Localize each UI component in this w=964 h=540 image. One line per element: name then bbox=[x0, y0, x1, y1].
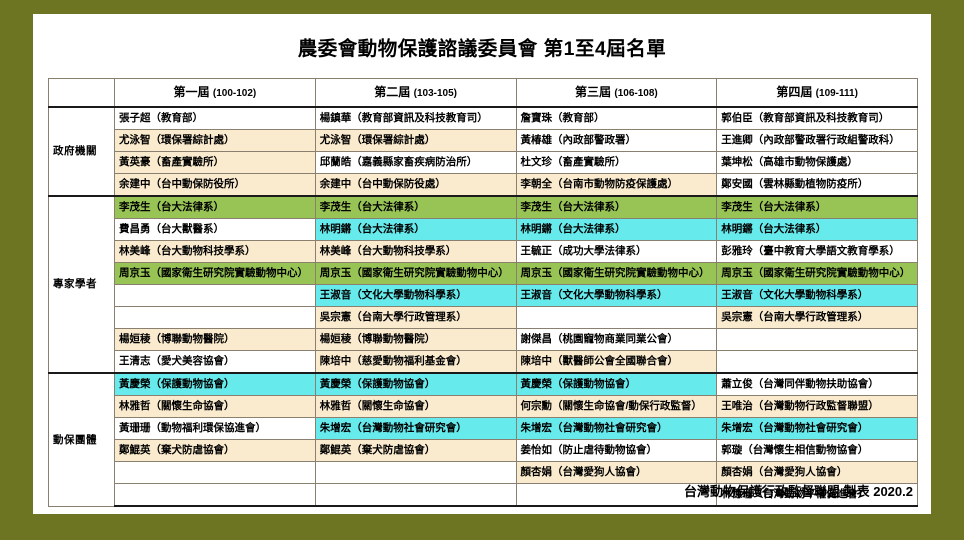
member-cell: 林明鏘（台大法律系） bbox=[717, 219, 918, 241]
member-cell: 余建中（台中動保防役處） bbox=[315, 174, 516, 197]
column-header-term-label: 第一屆 bbox=[174, 85, 210, 99]
table-row: 費昌勇（台大獸醫系）林明鏘（台大法律系）林明鏘（台大法律系）林明鏘（台大法律系） bbox=[49, 219, 918, 241]
table-row: 鄭鯤英（棄犬防虐協會）鄭鯤英（棄犬防虐協會）姜怡如（防止虐待動物協會）郭璇（台灣… bbox=[49, 440, 918, 462]
member-cell: 彭雅玲（臺中教育大學語文教育學系） bbox=[717, 241, 918, 263]
category-label-1: 政府機關 bbox=[49, 107, 115, 196]
member-cell: 周京玉（國家衛生研究院實驗動物中心） bbox=[315, 263, 516, 285]
table-row: 余建中（台中動保防役所）余建中（台中動保防役處）李朝全（台南市動物防疫保護處）鄭… bbox=[49, 174, 918, 197]
column-header-years-label: (103-105) bbox=[414, 88, 457, 99]
column-header-years-label: (100-102) bbox=[213, 88, 256, 99]
member-cell: 王淑音（文化大學動物科學系） bbox=[315, 285, 516, 307]
member-cell: 鄭鯤英（棄犬防虐協會） bbox=[115, 440, 316, 462]
column-header-years-label: (106-108) bbox=[614, 88, 657, 99]
member-cell: 費昌勇（台大獸醫系） bbox=[115, 219, 316, 241]
member-cell bbox=[115, 462, 316, 484]
member-cell: 周京玉（國家衛生研究院實驗動物中心） bbox=[516, 263, 717, 285]
table-row: 周京玉（國家衛生研究院實驗動物中心）周京玉（國家衛生研究院實驗動物中心）周京玉（… bbox=[49, 263, 918, 285]
footer-credit: 台灣動物保護行政監督聯盟 製表 2020.2 bbox=[684, 481, 913, 500]
member-cell: 詹寶珠（教育部） bbox=[516, 107, 717, 130]
member-cell: 張子超（教育部） bbox=[115, 107, 316, 130]
member-cell: 何宗勳（關懷生命協會/動保行政監督） bbox=[516, 396, 717, 418]
member-cell: 蕭立俊（台灣同伴動物扶助協會） bbox=[717, 373, 918, 396]
column-header-years-label: (109-111) bbox=[816, 88, 858, 99]
member-cell bbox=[315, 462, 516, 484]
member-cell: 王唯治（台灣動物行政監督聯盟） bbox=[717, 396, 918, 418]
member-cell: 鄭安國（雲林縣動植物防疫所） bbox=[717, 174, 918, 197]
member-cell: 鄭鯤英（棄犬防虐協會） bbox=[315, 440, 516, 462]
member-cell: 李朝全（台南市動物防疫保護處） bbox=[516, 174, 717, 197]
roster-table-container: 第一屆 (100-102)第二屆 (103-105)第三屆 (106-108)第… bbox=[48, 78, 918, 507]
member-cell: 林明鏘（台大法律系） bbox=[516, 219, 717, 241]
member-cell: 陳培中（慈愛動物福利基金會） bbox=[315, 351, 516, 374]
member-cell: 王淑音（文化大學動物科學系） bbox=[516, 285, 717, 307]
table-corner-cell bbox=[49, 79, 115, 108]
member-cell bbox=[115, 484, 316, 507]
member-cell: 李茂生（台大法律系） bbox=[717, 196, 918, 219]
page-title: 農委會動物保護諮議委員會 第1至4屆名單 bbox=[33, 32, 931, 61]
member-cell: 朱增宏（台灣動物社會研究會） bbox=[315, 418, 516, 440]
member-cell: 朱增宏（台灣動物社會研究會） bbox=[516, 418, 717, 440]
member-cell: 黃慶榮（保護動物協會） bbox=[516, 373, 717, 396]
member-cell: 黃慶榮（保護動物協會） bbox=[115, 373, 316, 396]
table-row: 林美峰（台大動物科技學系）林美峰（台大動物科技學系）王毓正（成功大學法律系）彭雅… bbox=[49, 241, 918, 263]
category-label-2: 專家學者 bbox=[49, 196, 115, 373]
table-header-row: 第一屆 (100-102)第二屆 (103-105)第三屆 (106-108)第… bbox=[49, 79, 918, 108]
member-cell: 杜文珍（畜產實驗所） bbox=[516, 152, 717, 174]
member-cell: 陳培中（獸醫師公會全國聯合會） bbox=[516, 351, 717, 374]
member-cell bbox=[115, 285, 316, 307]
table-body: 政府機關張子超（教育部）楊鎮華（教育部資訊及科技教育司）詹寶珠（教育部）郭伯臣（… bbox=[49, 107, 918, 506]
member-cell: 謝傑昌（桃園寵物商業同業公會） bbox=[516, 329, 717, 351]
member-cell: 郭伯臣（教育部資訊及科技教育司） bbox=[717, 107, 918, 130]
member-cell: 王進卿（內政部警政署行政組警政科） bbox=[717, 130, 918, 152]
member-cell: 楊姮稜（博聯動物醫院） bbox=[115, 329, 316, 351]
member-cell: 葉坤松（高雄市動物保護處） bbox=[717, 152, 918, 174]
member-cell: 楊鎮華（教育部資訊及科技教育司） bbox=[315, 107, 516, 130]
member-cell: 林美峰（台大動物科技學系） bbox=[115, 241, 316, 263]
column-header-term-label: 第二屆 bbox=[374, 85, 410, 99]
member-cell: 李茂生（台大法律系） bbox=[516, 196, 717, 219]
member-cell: 尤泳智（環保署綜計處） bbox=[315, 130, 516, 152]
member-cell: 李茂生（台大法律系） bbox=[115, 196, 316, 219]
table-row: 政府機關張子超（教育部）楊鎮華（教育部資訊及科技教育司）詹寶珠（教育部）郭伯臣（… bbox=[49, 107, 918, 130]
member-cell: 邱蘭皓（嘉義縣家畜疾病防治所） bbox=[315, 152, 516, 174]
table-row: 動保團體黃慶榮（保護動物協會）黃慶榮（保護動物協會）黃慶榮（保護動物協會）蕭立俊… bbox=[49, 373, 918, 396]
table-row: 黃英豪（畜產實驗所）邱蘭皓（嘉義縣家畜疾病防治所）杜文珍（畜產實驗所）葉坤松（高… bbox=[49, 152, 918, 174]
table-row: 楊姮稜（博聯動物醫院）楊姮稜（博聯動物醫院）謝傑昌（桃園寵物商業同業公會） bbox=[49, 329, 918, 351]
category-label-3: 動保團體 bbox=[49, 373, 115, 506]
table-row: 吳宗憲（台南大學行政管理系）吳宗憲（台南大學行政管理系） bbox=[49, 307, 918, 329]
member-cell: 黃珊珊（動物福利環保協進會） bbox=[115, 418, 316, 440]
column-header-term-1: 第一屆 (100-102) bbox=[115, 79, 316, 108]
member-cell bbox=[516, 307, 717, 329]
member-cell: 林雅哲（關懷生命協會） bbox=[115, 396, 316, 418]
member-cell: 吳宗憲（台南大學行政管理系） bbox=[315, 307, 516, 329]
column-header-term-3: 第三屆 (106-108) bbox=[516, 79, 717, 108]
member-cell: 尤泳智（環保署綜計處） bbox=[115, 130, 316, 152]
member-cell bbox=[315, 484, 516, 507]
member-cell bbox=[717, 329, 918, 351]
column-header-term-label: 第三屆 bbox=[575, 85, 611, 99]
member-cell: 李茂生（台大法律系） bbox=[315, 196, 516, 219]
table-row: 黃珊珊（動物福利環保協進會）朱增宏（台灣動物社會研究會）朱增宏（台灣動物社會研究… bbox=[49, 418, 918, 440]
member-cell: 周京玉（國家衛生研究院實驗動物中心） bbox=[717, 263, 918, 285]
table-row: 專家學者李茂生（台大法律系）李茂生（台大法律系）李茂生（台大法律系）李茂生（台大… bbox=[49, 196, 918, 219]
member-cell: 林明鏘（台大法律系） bbox=[315, 219, 516, 241]
member-cell: 姜怡如（防止虐待動物協會） bbox=[516, 440, 717, 462]
table-row: 林雅哲（關懷生命協會）林雅哲（關懷生命協會）何宗勳（關懷生命協會/動保行政監督）… bbox=[49, 396, 918, 418]
member-cell: 黃椿雄（內政部警政署） bbox=[516, 130, 717, 152]
member-cell: 楊姮稜（博聯動物醫院） bbox=[315, 329, 516, 351]
table-row: 王淑音（文化大學動物科學系）王淑音（文化大學動物科學系）王淑音（文化大學動物科學… bbox=[49, 285, 918, 307]
member-cell bbox=[115, 307, 316, 329]
roster-table: 第一屆 (100-102)第二屆 (103-105)第三屆 (106-108)第… bbox=[48, 78, 918, 507]
member-cell: 王毓正（成功大學法律系） bbox=[516, 241, 717, 263]
member-cell: 余建中（台中動保防役所） bbox=[115, 174, 316, 197]
column-header-term-label: 第四屆 bbox=[776, 85, 812, 99]
slide-card: 農委會動物保護諮議委員會 第1至4屆名單 第一屆 (100-102)第二屆 (1… bbox=[33, 14, 931, 514]
member-cell: 王淑音（文化大學動物科學系） bbox=[717, 285, 918, 307]
table-header: 第一屆 (100-102)第二屆 (103-105)第三屆 (106-108)第… bbox=[49, 79, 918, 108]
member-cell: 林美峰（台大動物科技學系） bbox=[315, 241, 516, 263]
member-cell: 黃慶榮（保護動物協會） bbox=[315, 373, 516, 396]
table-row: 王清志（愛犬美容協會）陳培中（慈愛動物福利基金會）陳培中（獸醫師公會全國聯合會） bbox=[49, 351, 918, 374]
member-cell bbox=[717, 351, 918, 374]
member-cell: 朱增宏（台灣動物社會研究會） bbox=[717, 418, 918, 440]
table-row: 尤泳智（環保署綜計處）尤泳智（環保署綜計處）黃椿雄（內政部警政署）王進卿（內政部… bbox=[49, 130, 918, 152]
column-header-term-2: 第二屆 (103-105) bbox=[315, 79, 516, 108]
column-header-term-4: 第四屆 (109-111) bbox=[717, 79, 918, 108]
member-cell: 吳宗憲（台南大學行政管理系） bbox=[717, 307, 918, 329]
member-cell: 王清志（愛犬美容協會） bbox=[115, 351, 316, 374]
member-cell: 周京玉（國家衛生研究院實驗動物中心） bbox=[115, 263, 316, 285]
member-cell: 林雅哲（關懷生命協會） bbox=[315, 396, 516, 418]
member-cell: 黃英豪（畜產實驗所） bbox=[115, 152, 316, 174]
member-cell: 郭璇（台灣懷生相信動物協會） bbox=[717, 440, 918, 462]
